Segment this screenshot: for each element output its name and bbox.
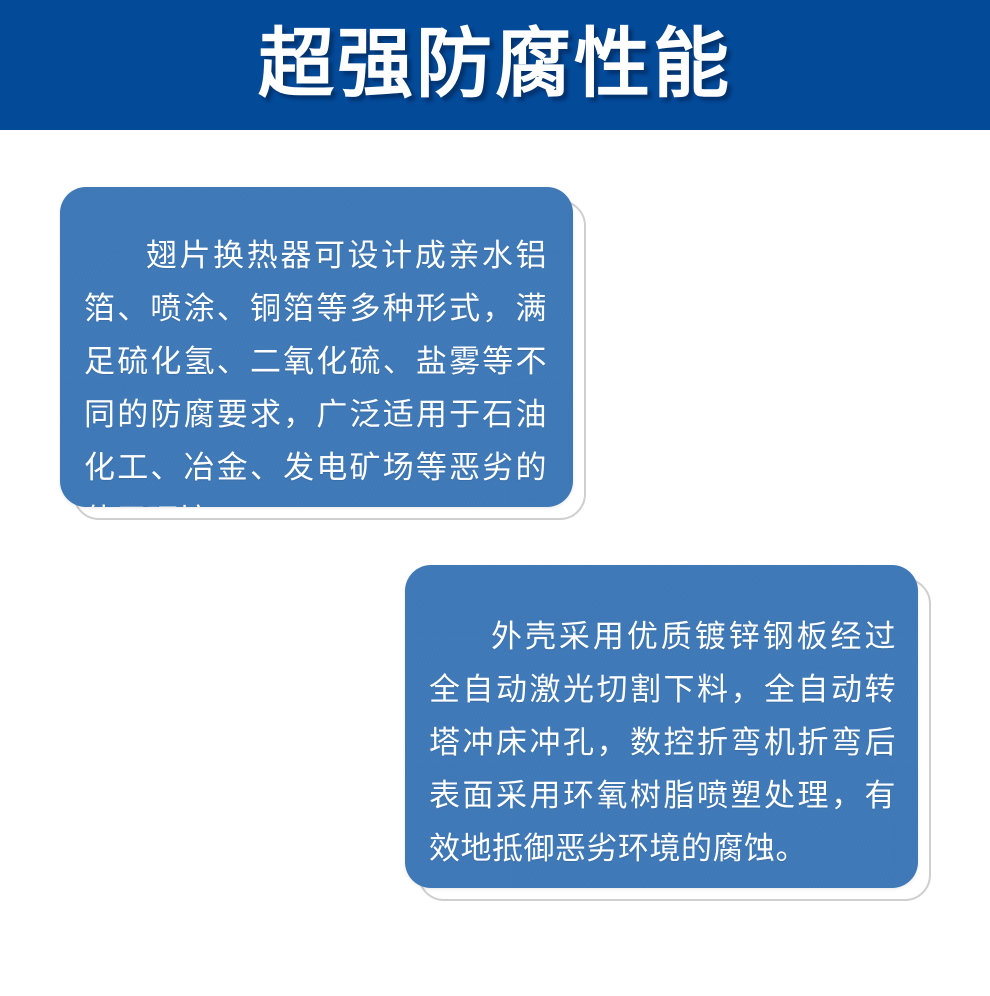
card-two-panel: 外壳采用优质镀锌钢板经过全自动激光切割下料，全自动转塔冲床冲孔，数控折弯机折弯后… xyxy=(405,565,918,888)
header-banner: 超强防腐性能 xyxy=(0,0,990,130)
card-one-body-text: 翅片换热器可设计成亲水铝箔、喷涂、铜箔等多种形式，满足硫化氢、二氧化硫、盐雾等不… xyxy=(60,187,573,507)
card-one-panel: 翅片换热器可设计成亲水铝箔、喷涂、铜箔等多种形式，满足硫化氢、二氧化硫、盐雾等不… xyxy=(60,187,573,507)
page-title: 超强防腐性能 xyxy=(258,27,732,103)
feature-card-two: 外壳采用优质镀锌钢板经过全自动激光切割下料，全自动转塔冲床冲孔，数控折弯机折弯后… xyxy=(405,565,918,888)
card-two-body-text: 外壳采用优质镀锌钢板经过全自动激光切割下料，全自动转塔冲床冲孔，数控折弯机折弯后… xyxy=(405,565,918,875)
feature-card-one: 翅片换热器可设计成亲水铝箔、喷涂、铜箔等多种形式，满足硫化氢、二氧化硫、盐雾等不… xyxy=(60,187,573,507)
